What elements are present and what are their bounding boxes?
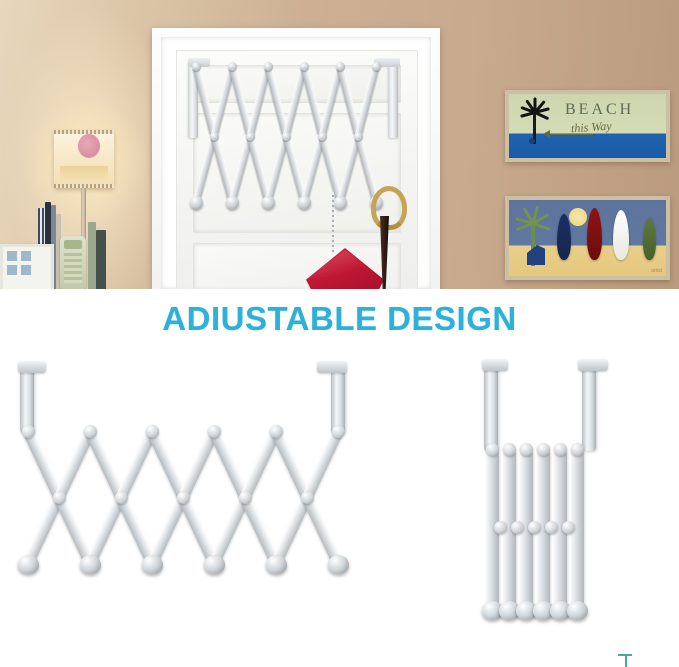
lattice-slat: [302, 429, 343, 500]
door-hook-arm: [331, 365, 345, 433]
collapsed-hanger-diagram: [478, 367, 618, 632]
pivot-pin: [84, 425, 97, 438]
lamp-shade-trim-top: [54, 130, 114, 134]
pivot-pin: [53, 491, 66, 504]
beach-sign-arrow-line: [545, 134, 593, 135]
sun-icon: [569, 208, 587, 226]
pivot-pin: [208, 425, 221, 438]
page-title: ADIUSTABLE DESIGN: [0, 300, 679, 338]
pivot-pin: [301, 491, 314, 504]
pivot-pin: [115, 491, 128, 504]
lifestyle-photo: BEACH this Way: [0, 0, 679, 289]
hook-knob: [18, 555, 39, 574]
hook-knob: [298, 196, 311, 209]
hook-knob: [262, 196, 275, 209]
pivot-pin: [511, 521, 524, 534]
palm-tree-fronds-icon: [517, 214, 551, 230]
pivot-pin: [270, 425, 283, 438]
surfboard: [587, 208, 602, 260]
hook-knob: [334, 196, 347, 209]
lamp-shade: [54, 130, 114, 188]
pivot-pin: [372, 62, 381, 71]
door-hook-top: [578, 359, 608, 371]
dimensions-diagram: ADIUSTABLE DESIGN 5in 7.48in 22in 10in 4…: [0, 289, 679, 667]
dim-10in-tick-top: [618, 654, 632, 656]
pivot-pin: [210, 132, 219, 141]
pivot-pin: [300, 62, 309, 71]
pivot-pin: [562, 521, 575, 534]
beach-sign-title: BEACH: [565, 101, 634, 119]
hook-knob: [226, 196, 239, 209]
pivot-pin: [545, 521, 558, 534]
pivot-pin: [528, 521, 541, 534]
pivot-pin: [486, 443, 499, 456]
hook-knob: [567, 601, 588, 620]
lattice-slat: [355, 65, 380, 137]
coconut-icon: [529, 138, 535, 144]
pivot-pin: [22, 425, 35, 438]
hook-knob: [80, 555, 101, 574]
hanger-on-door: [188, 62, 404, 207]
pivot-pin: [318, 132, 327, 141]
artwork-signature: artist: [651, 268, 662, 274]
door-hook-arm: [582, 363, 596, 451]
pivot-pin: [177, 491, 190, 504]
pivot-pin: [264, 62, 273, 71]
beach-sign-artwork: BEACH this Way: [505, 90, 670, 162]
hook-knob: [328, 555, 349, 574]
pivot-pin: [146, 425, 159, 438]
pivot-pin: [246, 132, 255, 141]
product-infographic: BEACH this Way: [0, 0, 679, 667]
umbrella-handle: [371, 186, 407, 230]
pivot-pin: [332, 425, 345, 438]
pivot-pin: [228, 62, 237, 71]
door-hook-top: [317, 361, 347, 373]
expanded-hanger-diagram: [14, 367, 394, 632]
left-arrow-icon: [543, 130, 550, 138]
hook-knob: [190, 196, 203, 209]
pivot-pin: [571, 443, 584, 456]
bag-chain-strap: [332, 192, 334, 254]
door-hook-arm: [20, 365, 34, 433]
surfboards-artwork: artist: [505, 196, 670, 280]
pivot-pin: [192, 62, 201, 71]
door-hook-top: [482, 359, 508, 371]
surfboard: [613, 210, 629, 260]
picture-frame: [0, 244, 54, 289]
book: [88, 222, 96, 289]
surfboard: [643, 218, 656, 260]
hook-knob: [204, 555, 225, 574]
pivot-pin: [520, 443, 533, 456]
door-hook-arm: [388, 60, 398, 138]
pivot-pin: [336, 62, 345, 71]
pivot-pin: [503, 443, 516, 456]
door-hook-top: [18, 361, 46, 373]
hook-knob: [142, 555, 163, 574]
pivot-pin: [239, 491, 252, 504]
beach-chair-icon: [527, 245, 545, 265]
pivot-pin: [354, 132, 363, 141]
palm-tree-fronds-icon: [521, 104, 549, 118]
cordless-phone: [60, 236, 86, 289]
pivot-pin: [554, 443, 567, 456]
book: [96, 230, 106, 289]
hook-knob: [266, 555, 287, 574]
pivot-pin: [494, 521, 507, 534]
door-hook-arm: [484, 363, 498, 451]
pivot-pin: [537, 443, 550, 456]
pivot-pin: [282, 132, 291, 141]
